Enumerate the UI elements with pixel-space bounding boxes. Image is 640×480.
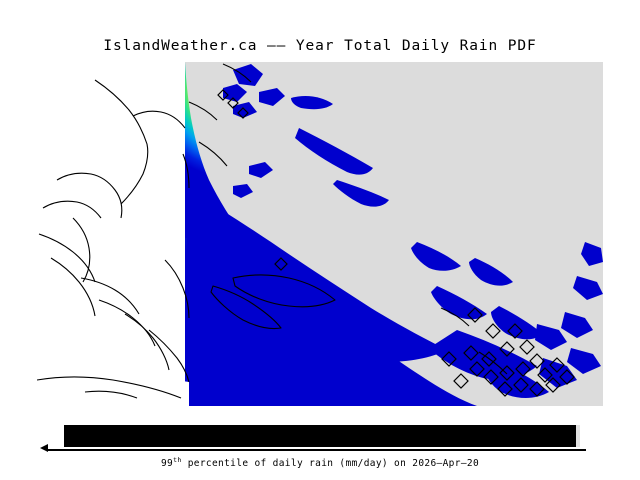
page-title: IslandWeather.ca —— Year Total Daily Rai… xyxy=(0,38,640,54)
colorbar-axis-line xyxy=(46,449,586,451)
colorbar-endcap xyxy=(576,425,580,447)
caption-description: percentile of daily rain (mm/day) on xyxy=(182,458,413,469)
page-root: IslandWeather.ca —— Year Total Daily Rai… xyxy=(0,0,640,480)
map-panel[interactable] xyxy=(37,62,603,406)
colorbar-caption: 99th percentile of daily rain (mm/day) o… xyxy=(0,458,640,469)
colorbar[interactable] xyxy=(64,425,578,448)
landmass-bottom-white xyxy=(37,370,189,406)
caption-date: 2026—Apr—20 xyxy=(412,458,479,469)
map-vector-overlay xyxy=(37,62,603,406)
colorbar-gradient xyxy=(64,425,576,447)
caption-percentile-suffix: th xyxy=(173,456,182,464)
caption-percentile-number: 99 xyxy=(161,458,173,469)
